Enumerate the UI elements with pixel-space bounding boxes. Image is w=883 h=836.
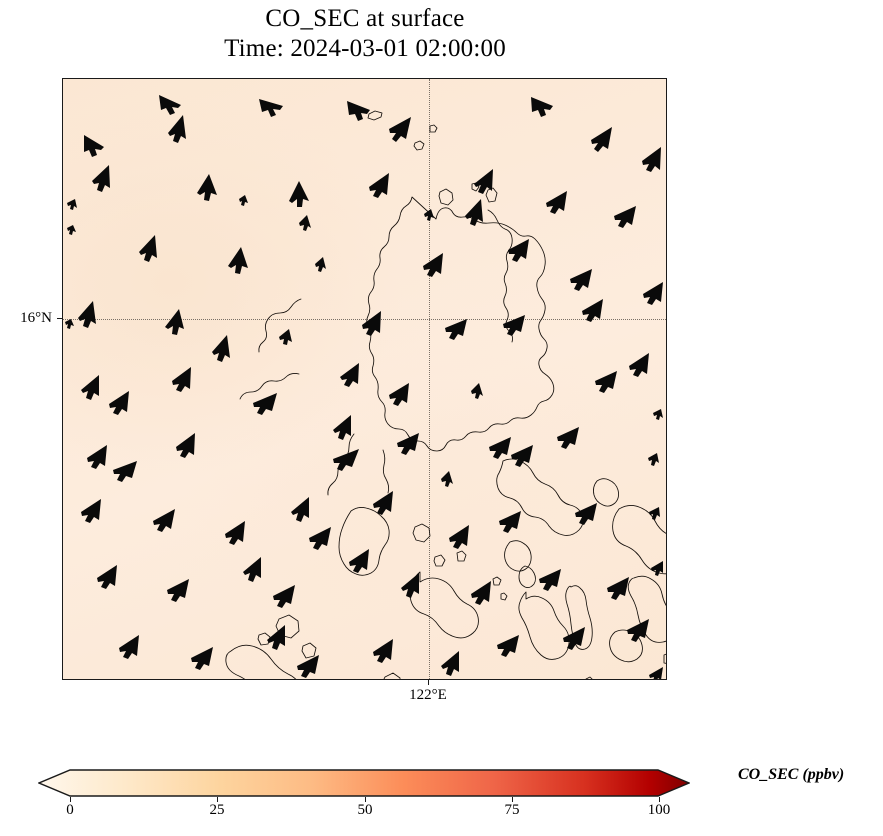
colorbar-gradient [38, 769, 690, 797]
ticklabel-lon-122e: 122°E [368, 688, 488, 703]
quiver-arrows [65, 95, 663, 680]
colorbar-ticklabel-75: 75 [505, 802, 520, 819]
colorbar-label: CO_SEC (ppbv) [738, 766, 844, 784]
colorbar-ticklabel-0: 0 [66, 802, 74, 819]
wind-vector-layer [63, 79, 667, 680]
tick-mark-lat-16n [57, 318, 62, 319]
colorbar[interactable] [38, 769, 690, 797]
colorbar-ticklabel-25: 25 [210, 802, 225, 819]
title-line-timestamp: Time: 2024-03-01 02:00:00 [0, 34, 730, 64]
colorbar-ticklabel-50: 50 [358, 802, 373, 819]
ticklabel-lat-16n: 16°N [0, 311, 52, 326]
figure-title: CO_SEC at surface Time: 2024-03-01 02:00… [0, 4, 730, 64]
colorbar-tick-group: 0 25 50 75 100 [38, 797, 690, 827]
colorbar-ticklabel-100: 100 [648, 802, 671, 819]
tick-mark-lon-122e [428, 680, 429, 685]
map-axes[interactable] [62, 78, 667, 680]
title-line-variable: CO_SEC at surface [0, 4, 730, 34]
